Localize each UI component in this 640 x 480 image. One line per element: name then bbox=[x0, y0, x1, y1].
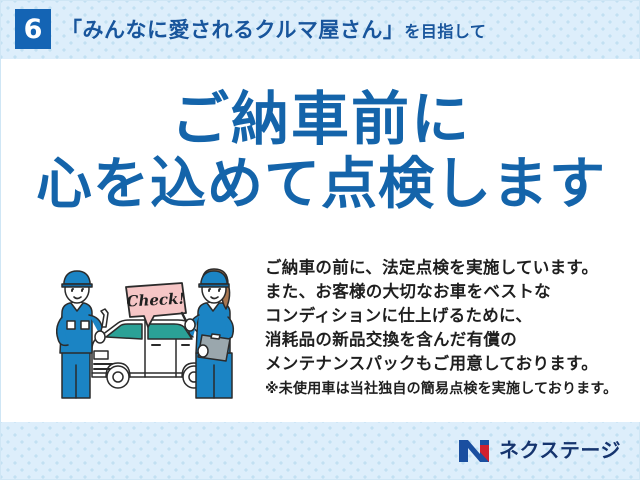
headline-block: ご納車前に 心を込めて点検します bbox=[1, 89, 640, 217]
nextage-n-icon bbox=[458, 439, 492, 463]
brand-logo: ネクステージ bbox=[458, 439, 621, 463]
speech-bubble-text: Check! bbox=[126, 289, 185, 310]
body-line-3: コンディションに仕上げるために、 bbox=[265, 304, 631, 328]
header-title-tail: を目指して bbox=[404, 24, 486, 41]
male-mechanic bbox=[57, 271, 108, 398]
header-bar: 6 「みんなに愛されるクルマ屋さん」を目指して bbox=[1, 1, 640, 59]
body-line-1: ご納車の前に、法定点検を実施しています。 bbox=[265, 256, 631, 280]
headline-line-2: 心を込めて点検します bbox=[1, 151, 640, 217]
section-number-badge: 6 bbox=[15, 9, 51, 49]
headline-line-1: ご納車前に bbox=[1, 89, 640, 151]
body-line-5: メンテナンスパックもご用意しております。 bbox=[265, 352, 631, 376]
body-line-4: 消耗品の新品交換を含んだ有償の bbox=[265, 328, 631, 352]
advertisement-slide: 6 「みんなに愛されるクルマ屋さん」を目指して ご納車前に 心を込めて点検します… bbox=[0, 0, 640, 480]
illustration-svg: Check! bbox=[56, 265, 261, 400]
body-copy: ご納車の前に、法定点検を実施しています。 また、お客様の大切なお車をベストな コ… bbox=[265, 256, 631, 399]
header-title-quoted: 「みんなに愛されるクルマ屋さん」 bbox=[61, 19, 404, 42]
header-title: 「みんなに愛されるクルマ屋さん」を目指して bbox=[61, 14, 486, 44]
body-line-2: また、お客様の大切なお車をベストな bbox=[265, 280, 631, 304]
content-panel: ご納車前に 心を込めて点検します ご納車の前に、法定点検を実施しています。 また… bbox=[1, 59, 640, 422]
body-note: ※未使用車は当社独自の簡易点検を実施しております。 bbox=[265, 377, 631, 399]
section-number: 6 bbox=[24, 16, 43, 43]
brand-name: ネクステージ bbox=[499, 441, 621, 461]
mechanics-illustration: Check! bbox=[56, 265, 261, 400]
